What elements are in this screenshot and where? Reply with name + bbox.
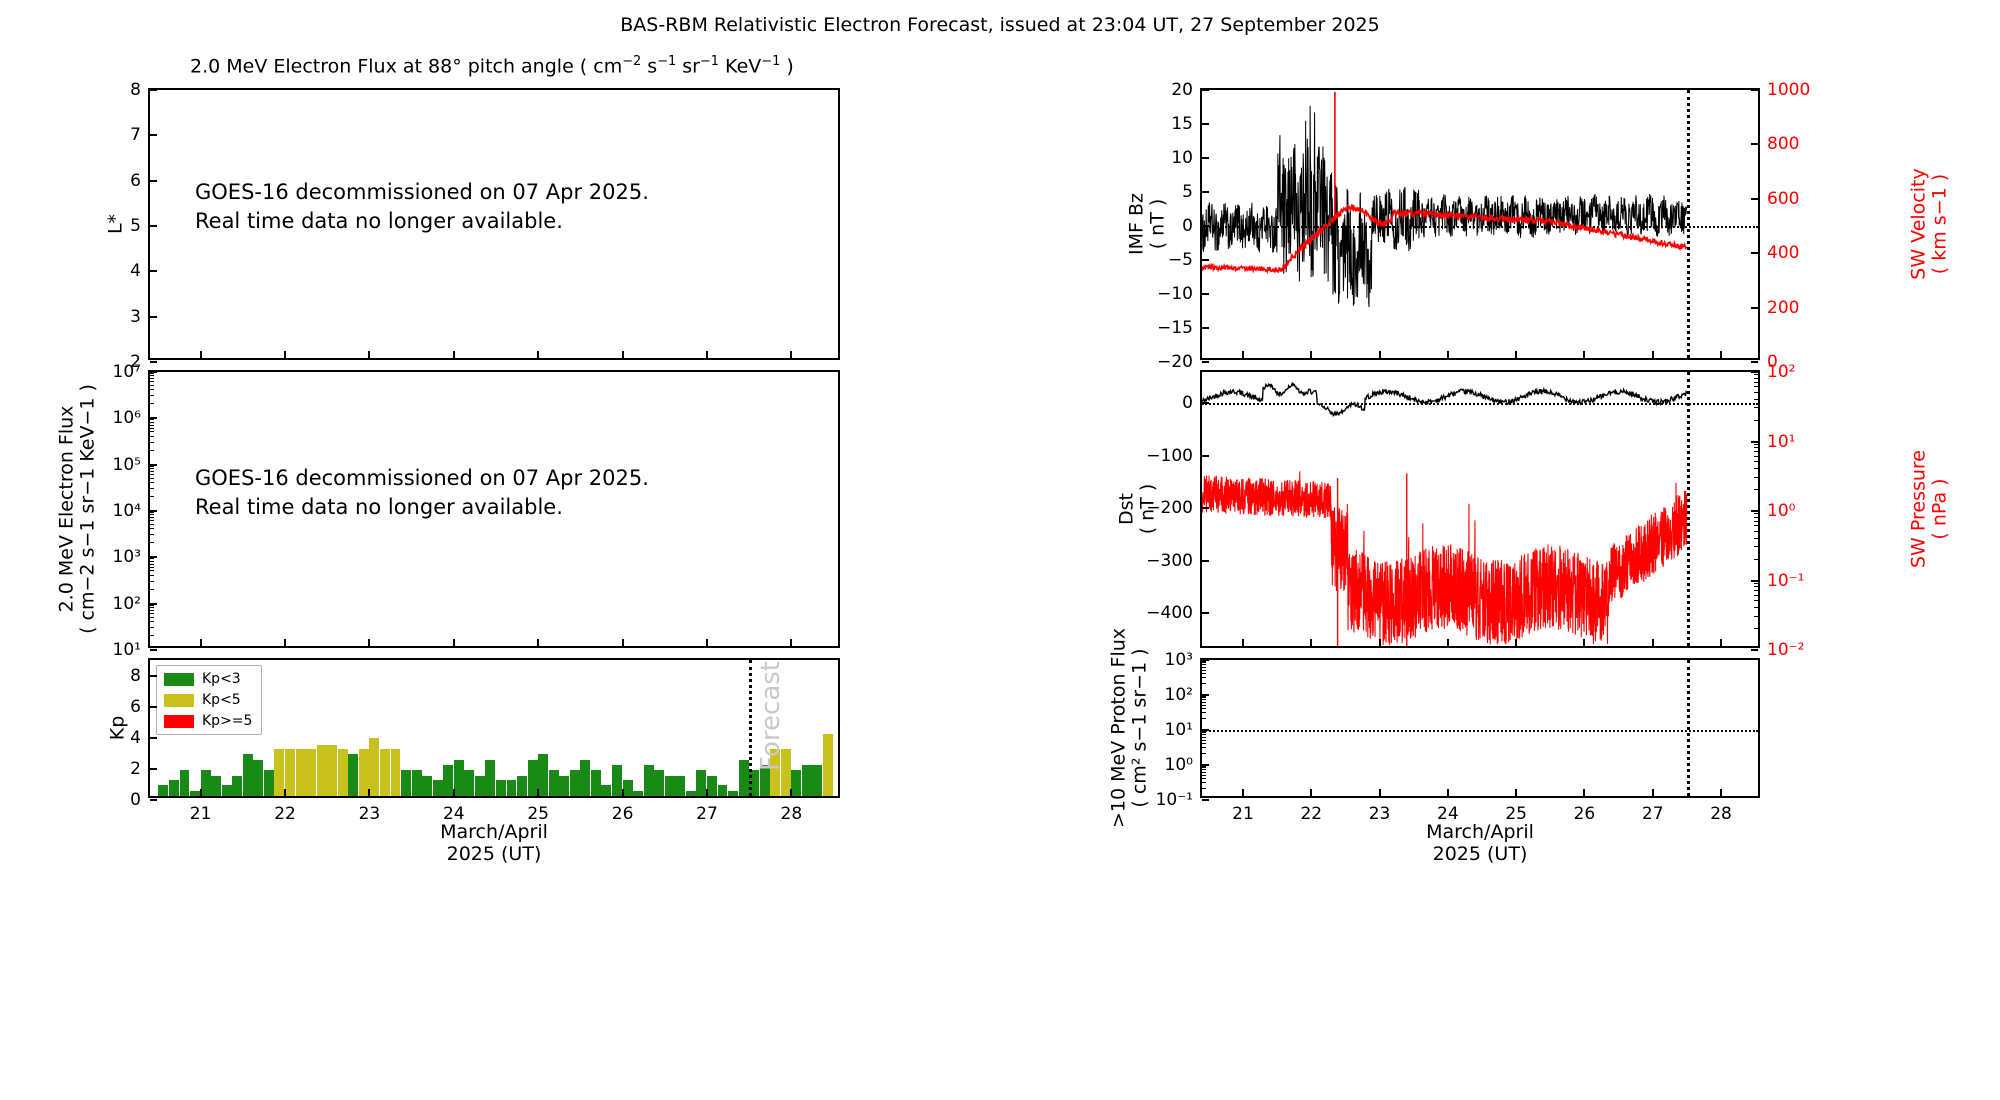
kp-bar [243, 754, 253, 796]
y-axis-tick-label: 0 [130, 790, 141, 810]
tick-mark [150, 768, 157, 770]
kp-xlabel-line1: March/April [440, 822, 548, 844]
panel-kp: Forecast Kp<3Kp<5Kp>=5 02468212223242526… [148, 658, 840, 798]
kp-bar [538, 754, 548, 796]
kp-bar [433, 780, 443, 796]
kp-bar [306, 749, 316, 796]
kp-bar [823, 734, 833, 796]
kp-bar [728, 791, 738, 796]
tick-mark [1754, 374, 1758, 375]
tick-mark [150, 89, 157, 91]
tick-mark [706, 639, 708, 646]
tick-mark [150, 375, 154, 376]
title-exp1: −2 [622, 54, 641, 69]
tick-mark [150, 496, 154, 497]
eflux-ylabel: 2.0 MeV Electron Flux ( cm−2 s−1 sr−1 Ke… [57, 384, 100, 634]
kp-bar [612, 765, 622, 796]
panel-lstar: GOES-16 decommissioned on 07 Apr 2025.Re… [148, 88, 840, 360]
tick-mark [1447, 639, 1449, 646]
tick-mark [1447, 789, 1449, 796]
tick-mark [1754, 392, 1758, 393]
tick-mark [1754, 586, 1758, 587]
dst-ylabel-line2: ( nT ) [1138, 484, 1159, 535]
kp-bar [190, 791, 200, 796]
y-axis-tick-label: 4 [130, 728, 141, 748]
swv-ylabel-line2: ( km s−1 ) [1930, 168, 1951, 279]
title-u1: s [641, 55, 657, 77]
x-axis-tick-label: 22 [1300, 804, 1322, 824]
tick-mark [150, 419, 154, 420]
pflux-xlabel-line2: 2025 (UT) [1426, 844, 1534, 866]
kp-legend-label: Kp>=5 [202, 713, 252, 729]
eflux-ylabel-line2: ( cm−2 s−1 sr−1 KeV−1 ) [78, 384, 99, 634]
tick-mark [1754, 456, 1758, 457]
tick-mark [150, 403, 154, 404]
tick-mark [150, 373, 154, 374]
tick-mark [1202, 89, 1209, 91]
tick-mark [1202, 677, 1206, 678]
x-axis-tick-label: 21 [190, 804, 212, 824]
x-axis-tick-label: 21 [1232, 804, 1254, 824]
title-exp3: −1 [700, 54, 719, 69]
tick-mark [150, 431, 154, 432]
tick-mark [150, 581, 154, 582]
lstar-ylabel: L* [105, 214, 126, 234]
tick-mark [1754, 451, 1758, 452]
tick-mark [1754, 531, 1758, 532]
tick-mark [1754, 378, 1758, 379]
tick-mark [1242, 639, 1244, 646]
kp-legend-label: Kp<3 [202, 671, 241, 687]
tick-mark [1447, 351, 1449, 358]
tick-mark [1751, 510, 1758, 512]
y-axis-tick-label: 10⁴ [113, 501, 141, 521]
y-axis-tick-label: 10⁻² [1767, 640, 1804, 660]
kp-bar [791, 770, 801, 796]
y-axis-tick-label: 1000 [1767, 80, 1810, 100]
tick-mark [150, 474, 154, 475]
kp-bar [327, 745, 337, 796]
tick-mark [1379, 639, 1381, 646]
tick-mark [1202, 123, 1209, 125]
tick-mark [284, 789, 286, 796]
tick-mark [1751, 580, 1758, 582]
y-axis-tick-label: 3 [130, 307, 141, 327]
tick-mark [1202, 697, 1206, 698]
tick-mark [1202, 788, 1206, 789]
tick-mark [1754, 461, 1758, 462]
tick-mark [1202, 718, 1206, 719]
tick-mark [150, 482, 154, 483]
tick-mark [1754, 489, 1758, 490]
panel-proton-flux: 10⁻¹10⁰10¹10²10³2122232425262728 [1200, 658, 1760, 798]
kp-bar [475, 776, 485, 796]
tick-mark [1310, 639, 1312, 646]
y-axis-tick-label: −400 [1146, 603, 1193, 623]
tick-mark [1202, 743, 1206, 744]
y-axis-tick-label: −20 [1157, 352, 1193, 372]
y-axis-tick-label: 5 [130, 216, 141, 236]
tick-mark [1202, 455, 1209, 457]
tick-mark [1379, 351, 1381, 358]
tick-mark [150, 737, 157, 739]
tick-mark [150, 607, 154, 608]
tick-mark [200, 639, 202, 646]
kp-bar [454, 760, 464, 796]
tick-mark [1202, 612, 1209, 614]
tick-mark [150, 589, 154, 590]
kp-bar [232, 776, 242, 796]
x-axis-tick-label: 28 [1710, 804, 1732, 824]
tick-mark [150, 417, 157, 419]
pflux-xlabel-line1: March/April [1426, 822, 1534, 844]
y-axis-tick-label: 2 [130, 759, 141, 779]
tick-mark [150, 371, 157, 373]
tick-mark [1754, 468, 1758, 469]
tick-mark [150, 316, 157, 318]
tick-mark [1310, 789, 1312, 796]
tick-mark [1202, 699, 1206, 700]
tick-mark [1751, 361, 1758, 363]
y-axis-tick-label: 10¹ [1767, 432, 1795, 452]
tick-mark [150, 534, 154, 535]
kp-bar [686, 791, 696, 796]
tick-mark [150, 605, 154, 606]
pflux-xlabel: March/April 2025 (UT) [1426, 822, 1534, 866]
tick-mark [150, 478, 154, 479]
tick-mark [1202, 782, 1206, 783]
lstar-no-data-message: GOES-16 decommissioned on 07 Apr 2025.Re… [195, 178, 649, 236]
tick-mark [1751, 143, 1758, 145]
tick-mark [150, 570, 154, 571]
x-axis-tick-label: 26 [1574, 804, 1596, 824]
kp-bar [675, 776, 685, 796]
tick-mark [1202, 694, 1209, 696]
title-exp4: −1 [761, 54, 780, 69]
y-axis-tick-label: 10³ [1165, 650, 1193, 670]
kp-legend-swatch [164, 694, 194, 707]
title-u3: KeV [719, 55, 761, 77]
tick-mark [1202, 737, 1206, 738]
tick-mark [1720, 351, 1722, 358]
eflux-ylabel-line1: 2.0 MeV Electron Flux [57, 384, 78, 634]
tick-mark [1754, 595, 1758, 596]
tick-mark [150, 378, 154, 379]
tick-mark [150, 468, 154, 469]
pflux-plot-area [1202, 660, 1758, 796]
tick-mark [1754, 590, 1758, 591]
kp-bar [169, 780, 179, 796]
kp-bar [623, 780, 633, 796]
y-axis-tick-label: 10 [1171, 148, 1193, 168]
tick-mark [1310, 351, 1312, 358]
y-axis-tick-label: 0 [1182, 393, 1193, 413]
tick-mark [1754, 600, 1758, 601]
tick-mark [537, 639, 539, 646]
dst-ylabel-line1: Dst [1117, 484, 1138, 535]
tick-mark [1754, 607, 1758, 608]
tick-mark [1242, 351, 1244, 358]
tick-mark [1754, 444, 1758, 445]
kp-bar [464, 770, 474, 796]
kp-bar [528, 760, 538, 796]
tick-mark [1202, 259, 1209, 261]
y-axis-tick-label: 10⁶ [113, 408, 141, 428]
kp-bar [401, 770, 411, 796]
tick-mark [150, 361, 157, 363]
tick-mark [1583, 789, 1585, 796]
title-mid: pitch angle ( cm [462, 55, 623, 77]
tick-mark [150, 428, 154, 429]
kp-bar [549, 770, 559, 796]
tick-mark [1202, 402, 1209, 404]
tick-mark [1202, 747, 1206, 748]
tick-mark [1202, 729, 1209, 731]
tick-mark [706, 789, 708, 796]
y-axis-tick-label: 10⁰ [1165, 755, 1193, 775]
y-axis-tick-label: −15 [1157, 318, 1193, 338]
tick-mark [1202, 361, 1209, 363]
tick-mark [1202, 769, 1206, 770]
kp-legend-row: Kp>=5 [164, 713, 252, 729]
tick-mark [150, 450, 154, 451]
panel-electron-flux: GOES-16 decommissioned on 07 Apr 2025.Re… [148, 370, 840, 648]
tick-mark [1583, 351, 1585, 358]
tick-mark [200, 351, 202, 358]
tick-mark [368, 639, 370, 646]
tick-mark [150, 635, 154, 636]
panel-imf-bz: −20−15−10−50510152002004006008001000 [1200, 88, 1760, 360]
tick-mark [150, 385, 154, 386]
kp-legend-swatch [164, 715, 194, 728]
tick-mark [1202, 191, 1209, 193]
tick-mark [150, 613, 154, 614]
tick-mark [150, 542, 154, 543]
tick-mark [1202, 772, 1206, 773]
kp-bar [211, 776, 221, 796]
y-axis-tick-label: 10⁻¹ [1767, 571, 1804, 591]
tick-mark [622, 789, 624, 796]
tick-mark [150, 799, 157, 801]
tick-mark [1754, 399, 1758, 400]
tick-mark [150, 649, 157, 651]
kp-bar [380, 749, 390, 796]
tick-mark [150, 225, 157, 227]
title-pre: 2.0 MeV Electron Flux at 88 [190, 55, 452, 77]
sw-pressure-trace [1202, 372, 1758, 646]
tick-mark [150, 617, 154, 618]
bz-ylabel-line2: ( nT ) [1148, 193, 1169, 255]
y-axis-tick-label: 4 [130, 261, 141, 281]
tick-mark [1202, 708, 1206, 709]
kp-bar [517, 776, 527, 796]
kp-bar [222, 785, 232, 796]
tick-mark [790, 789, 792, 796]
tick-mark [1202, 740, 1206, 741]
kp-bar [633, 791, 643, 796]
tick-mark [150, 564, 154, 565]
tick-mark [1754, 386, 1758, 387]
swv-ylabel-line1: SW Velocity [1909, 168, 1930, 279]
tick-mark [1242, 789, 1244, 796]
title-u2: sr [676, 55, 700, 77]
kp-bar [507, 780, 517, 796]
tick-mark [150, 514, 154, 515]
tick-mark [150, 517, 154, 518]
x-axis-tick-label: 23 [1369, 804, 1391, 824]
tick-mark [1751, 252, 1758, 254]
pflux-ylabel: >10 MeV Proton Flux ( cm² s−1 sr−1 ) [1109, 628, 1152, 828]
swp-ylabel-line2: ( nPa ) [1930, 450, 1951, 568]
kp-bar [359, 749, 369, 796]
tick-mark [1202, 753, 1206, 754]
tick-mark [1751, 307, 1758, 309]
tick-mark [1751, 441, 1758, 443]
tick-mark [1202, 673, 1206, 674]
tick-mark [1754, 628, 1758, 629]
y-axis-tick-label: 10² [1767, 362, 1795, 382]
dst-ylabel: Dst ( nT ) [1117, 484, 1160, 535]
tick-mark [1754, 538, 1758, 539]
dst-plot-area [1202, 372, 1758, 646]
tick-mark [150, 567, 154, 568]
tick-mark [150, 466, 154, 467]
kp-bar [644, 765, 654, 796]
tick-mark [1754, 513, 1758, 514]
y-axis-tick-label: 10⁵ [113, 455, 141, 475]
kp-ylabel: Kp [107, 716, 128, 741]
tick-mark [1652, 789, 1654, 796]
tick-mark [1202, 778, 1206, 779]
y-axis-tick-label: 600 [1767, 189, 1799, 209]
tick-mark [150, 575, 154, 576]
tick-mark [150, 621, 154, 622]
bz-plot-area [1202, 90, 1758, 358]
tick-mark [1720, 789, 1722, 796]
tick-mark [1202, 327, 1209, 329]
tick-mark [150, 512, 154, 513]
bz-forecast-boundary-line [1687, 90, 1690, 358]
y-axis-tick-label: −5 [1168, 250, 1193, 270]
tick-mark [1754, 616, 1758, 617]
tick-mark [150, 603, 157, 605]
tick-mark [150, 524, 154, 525]
kp-xlabel-line2: 2025 (UT) [440, 844, 548, 866]
kp-bar [348, 754, 358, 796]
tick-mark [150, 471, 154, 472]
kp-bar [496, 780, 506, 796]
tick-mark [453, 789, 455, 796]
tick-mark [1202, 705, 1206, 706]
tick-mark [790, 639, 792, 646]
x-axis-tick-label: 22 [274, 804, 296, 824]
tick-mark [1754, 407, 1758, 408]
tick-mark [1202, 560, 1209, 562]
tick-mark [1379, 789, 1381, 796]
tick-mark [1754, 382, 1758, 383]
y-axis-tick-label: 10³ [113, 547, 141, 567]
title-post: ) [780, 55, 793, 77]
x-axis-tick-label: 28 [781, 804, 803, 824]
y-axis-tick-label: 5 [1182, 182, 1193, 202]
tick-mark [1202, 683, 1206, 684]
tick-mark [150, 610, 154, 611]
sw-velocity-trace [1202, 90, 1758, 358]
tick-mark [1202, 767, 1206, 768]
tick-mark [1652, 639, 1654, 646]
tick-mark [1202, 670, 1206, 671]
sw-pressure-polyline [1202, 471, 1687, 645]
kp-bar [264, 770, 274, 796]
tick-mark [200, 789, 202, 796]
kp-bar [158, 785, 168, 796]
y-axis-tick-label: 10¹ [1165, 720, 1193, 740]
tick-mark [1202, 732, 1206, 733]
kp-bar [654, 770, 664, 796]
kp-bar [812, 765, 822, 796]
kp-bar [485, 760, 495, 796]
y-axis-tick-label: −10 [1157, 284, 1193, 304]
y-axis-tick-label: −300 [1146, 551, 1193, 571]
tick-mark [368, 351, 370, 358]
kp-bar [285, 749, 295, 796]
kp-bar [707, 776, 717, 796]
y-axis-tick-label: 800 [1767, 134, 1799, 154]
tick-mark [150, 464, 157, 466]
kp-bar [369, 738, 379, 796]
tick-mark [1202, 764, 1209, 766]
kp-forecast-boundary-line [749, 660, 752, 796]
y-axis-tick-label: 10² [113, 594, 141, 614]
y-axis-tick-label: 10¹ [113, 640, 141, 660]
tick-mark [150, 556, 157, 558]
tick-mark [1754, 583, 1758, 584]
tick-mark [150, 134, 157, 136]
title-degree: ° [452, 55, 462, 77]
x-axis-tick-label: 23 [359, 804, 381, 824]
tick-mark [1652, 351, 1654, 358]
kp-bar [443, 765, 453, 796]
tick-mark [453, 639, 455, 646]
tick-mark [1754, 477, 1758, 478]
y-axis-tick-label: 10² [1165, 685, 1193, 705]
tick-mark [150, 389, 154, 390]
forecast-figure: BAS-RBM Relativistic Electron Forecast, … [0, 0, 2000, 1100]
kp-bar [802, 765, 812, 796]
tick-mark [1202, 225, 1209, 227]
kp-legend: Kp<3Kp<5Kp>=5 [156, 665, 262, 735]
kp-bar [317, 745, 327, 796]
x-axis-tick-label: 26 [612, 804, 634, 824]
tick-mark [150, 510, 157, 512]
tick-mark [1202, 157, 1209, 159]
y-axis-tick-label: 200 [1767, 298, 1799, 318]
tick-mark [1754, 420, 1758, 421]
lstar-plot-area: GOES-16 decommissioned on 07 Apr 2025.Re… [150, 90, 838, 358]
tick-mark [1515, 639, 1517, 646]
y-axis-tick-label: 0 [1182, 216, 1193, 236]
tick-mark [284, 639, 286, 646]
tick-mark [706, 351, 708, 358]
tick-mark [150, 270, 157, 272]
eflux-plot-area: GOES-16 decommissioned on 07 Apr 2025.Re… [150, 372, 838, 646]
tick-mark [1202, 293, 1209, 295]
x-axis-tick-label: 27 [1642, 804, 1664, 824]
kp-forecast-label: Forecast [756, 661, 786, 771]
bz-ylabel-line1: IMF Bz [1127, 193, 1148, 255]
tick-mark [537, 351, 539, 358]
kp-bar [412, 770, 422, 796]
